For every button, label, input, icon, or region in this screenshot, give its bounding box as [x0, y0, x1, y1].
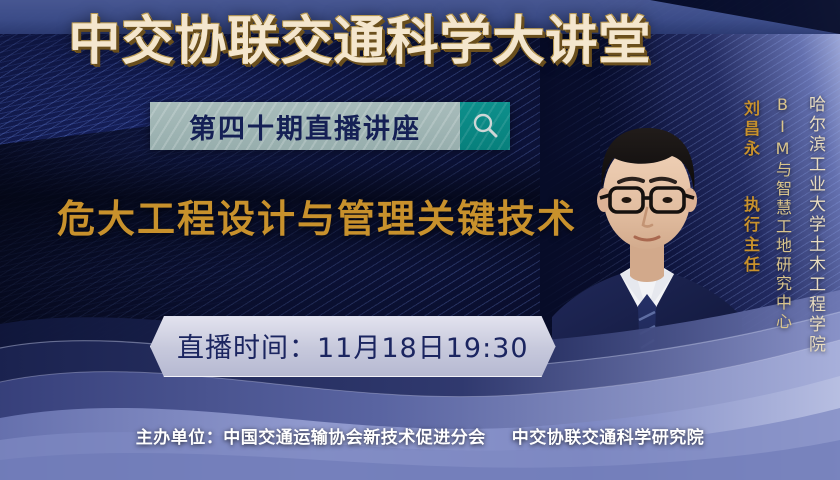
search-button[interactable]	[460, 102, 510, 150]
series-label-bar: 第四十期直播讲座	[150, 102, 460, 150]
speaker-name: 刘昌永	[738, 100, 762, 160]
poster-canvas: 中交协联交通科学大讲堂 第四十期直播讲座 危大工程设计与管理关键技术 直播时间：…	[0, 0, 840, 480]
series-banner: 第四十期直播讲座	[150, 102, 510, 150]
series-label: 第四十期直播讲座	[189, 107, 421, 146]
live-time-badge: 直播时间：11月18日19:30	[150, 316, 556, 377]
lecture-title: 危大工程设计与管理关键技术	[57, 188, 577, 243]
footer-prefix: 主办单位：	[136, 428, 224, 448]
speaker-research-center: BIM与智慧工地研究中心	[770, 95, 794, 332]
speaker-organization: 哈尔滨工业大学土木工程学院	[803, 95, 828, 355]
search-icon	[470, 111, 500, 141]
footer-hosts: 主办单位：中国交通运输协会新技术促进分会中交协联交通科学研究院	[0, 423, 840, 448]
footer-host-primary: 中国交通运输协会新技术促进分会	[223, 428, 486, 448]
page-title: 中交协联交通科学大讲堂	[0, 12, 840, 73]
footer-host-secondary: 中交协联交通科学研究院	[512, 428, 705, 448]
speaker-role: 执行主任	[738, 196, 762, 276]
